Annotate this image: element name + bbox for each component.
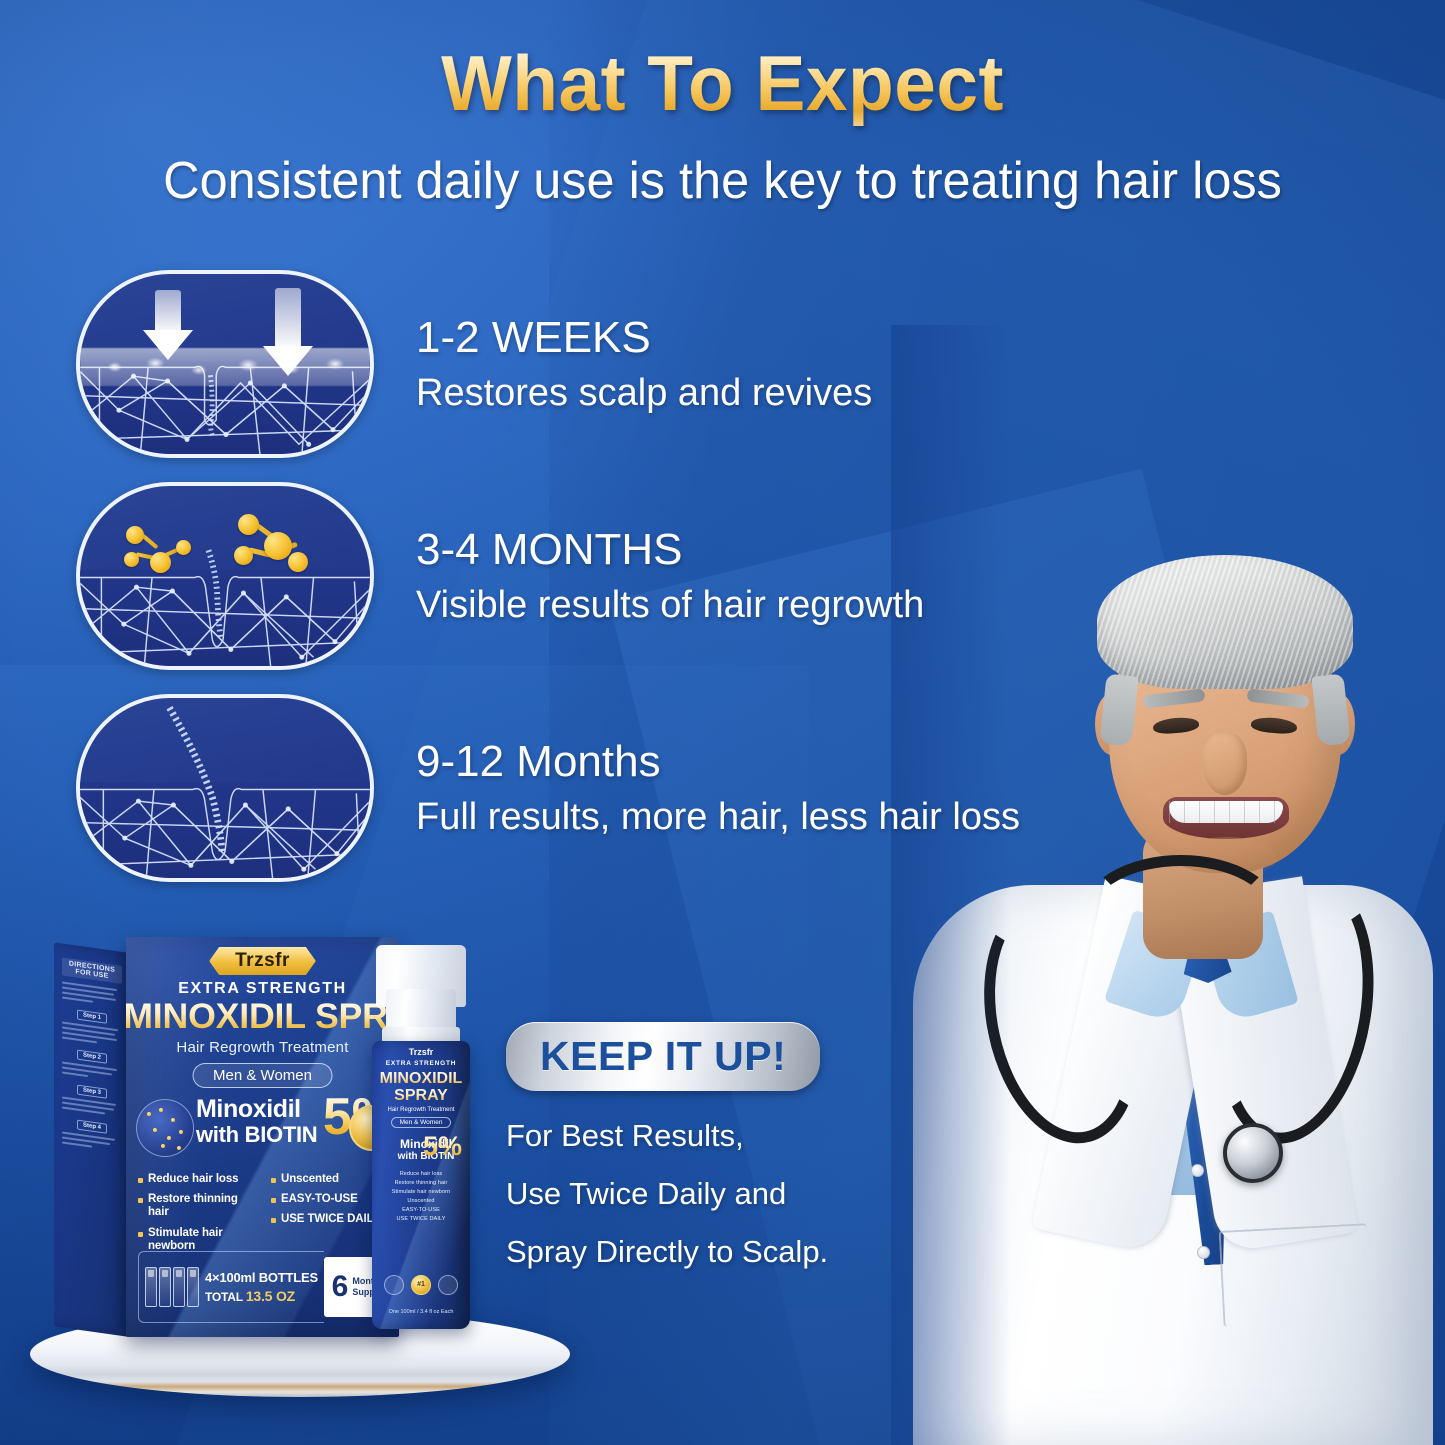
step-text — [62, 1021, 122, 1046]
minoxidil-molecule-large — [232, 512, 324, 578]
directions-text — [62, 981, 122, 1006]
supply-months: 6 — [332, 1272, 349, 1302]
product-display: DIRECTIONS FOR USE Step 1 Step 2 Step 3 … — [24, 927, 584, 1397]
extra-strength-label: EXTRA STRENGTH — [126, 980, 399, 998]
rank-badge-icon: #1 — [411, 1275, 431, 1295]
bullet-icon — [271, 1218, 276, 1223]
expectation-timeline: 1-2 WEEKS Restores scalp and revives — [76, 258, 1076, 894]
timeline-row: 1-2 WEEKS Restores scalp and revives — [76, 258, 1076, 470]
timeline-text: 1-2 WEEKS Restores scalp and revives — [374, 313, 872, 416]
doctor-gray-hair — [1097, 555, 1353, 689]
audience-label: Men & Women — [192, 1063, 333, 1088]
timeline-text: 9-12 Months Full results, more hair, les… — [374, 737, 1020, 840]
step-label: Step 3 — [77, 1085, 107, 1099]
doctor-nose — [1203, 733, 1247, 795]
step-label: Step 4 — [77, 1120, 107, 1134]
bottle-audience-wrap: Men & Women — [372, 1119, 470, 1126]
bottle-badges: #1 — [372, 1275, 470, 1295]
timeline-description: Visible results of hair regrowth — [416, 584, 924, 628]
timeline-description: Restores scalp and revives — [416, 372, 872, 416]
step-label: Step 1 — [77, 1010, 107, 1024]
bottle-count-icon — [145, 1267, 199, 1307]
brand-badge: Trzsfr — [209, 947, 316, 975]
stethoscope-chestpiece — [1223, 1123, 1283, 1183]
bottle-treatment: Hair Regrowth Treatment — [372, 1107, 470, 1113]
bottle-benefit: EASY-TO-USE — [372, 1207, 470, 1213]
benefits-list: Reduce hair loss Restore thinning hair S… — [138, 1173, 390, 1260]
scalp-illustration-icon — [136, 1099, 194, 1157]
bottle-quantity: 4×100ml BOTTLES — [205, 1270, 318, 1285]
bottle-benefit: Restore thinning hair — [372, 1180, 470, 1186]
scalp-molecules-icon — [76, 482, 374, 670]
bottle-benefit: Reduce hair loss — [372, 1171, 470, 1177]
timeline-heading: 1-2 WEEKS — [416, 313, 872, 362]
doctor-sideburn-right — [1311, 674, 1350, 747]
timeline-row: 9-12 Months Full results, more hair, les… — [76, 682, 1076, 894]
skin-mesh — [80, 698, 370, 881]
directions-heading: DIRECTIONS FOR USE — [62, 957, 122, 983]
absorption-arrow-right — [258, 288, 318, 380]
quantity-text: 4×100ml BOTTLES TOTAL 13.5 OZ — [205, 1270, 318, 1304]
header: What To Expect Consistent daily use is t… — [0, 0, 1445, 211]
treatment-label: Hair Regrowth Treatment — [126, 1039, 399, 1056]
minoxidil-molecule-small — [122, 522, 200, 580]
benefits-column-left: Reduce hair loss Restore thinning hair S… — [138, 1173, 257, 1260]
bottle-label: Trzsfr EXTRA STRENGTH MINOXIDIL SPRAY Ha… — [372, 1041, 470, 1329]
benefit-label: Reduce hair loss — [148, 1173, 238, 1186]
stethoscope-neck-band — [1081, 855, 1281, 975]
bottle-benefits: Reduce hair loss Restore thinning hair S… — [372, 1171, 470, 1225]
bullet-icon — [271, 1178, 276, 1183]
doctor-teeth — [1169, 801, 1283, 823]
doctor-coat-pocket — [1219, 1223, 1372, 1327]
bullet-icon — [138, 1232, 143, 1237]
step-label: Step 2 — [77, 1050, 107, 1064]
scalp-hair-growth-icon — [76, 694, 374, 882]
bottle-benefit: Stimulate hair newborn — [372, 1189, 470, 1195]
bullet-icon — [138, 1198, 143, 1203]
page-title: What To Expect — [29, 38, 1416, 129]
bottle-audience: Men & Women — [391, 1117, 452, 1128]
bottle-brand: Trzsfr — [372, 1047, 470, 1057]
benefit-item: Restore thinning hair — [138, 1193, 257, 1219]
scalp-absorption-icon — [76, 270, 374, 458]
box-side-panel: DIRECTIONS FOR USE Step 1 Step 2 Step 3 … — [54, 942, 130, 1337]
bottle-benefit: USE TWICE DAILY — [372, 1216, 470, 1222]
benefit-label: EASY-TO-USE — [281, 1193, 358, 1206]
total-value: 13.5 OZ — [246, 1288, 295, 1304]
bullet-icon — [138, 1178, 143, 1183]
product-name: MINOXIDIL SPRAY — [126, 997, 399, 1037]
step-text — [62, 1061, 122, 1081]
doctor-mouth — [1163, 797, 1289, 839]
timeline-heading: 3-4 MONTHS — [416, 525, 924, 574]
bottle-seal-right-icon — [438, 1275, 458, 1295]
spray-bottle: Trzsfr EXTRA STRENGTH MINOXIDIL SPRAY Ha… — [362, 945, 480, 1335]
bottle-product-name-line1: MINOXIDIL — [372, 1070, 470, 1088]
bottle-product-name-line2: SPRAY — [372, 1087, 470, 1105]
benefit-label: Stimulate hair newborn — [148, 1227, 257, 1253]
bottle-volume: One 100ml / 3.4 fl oz Each — [372, 1309, 470, 1315]
total-label: TOTAL — [205, 1290, 243, 1304]
page-subtitle: Consistent daily use is the key to treat… — [22, 151, 1424, 211]
bottle-seal-left-icon — [384, 1275, 404, 1295]
bottle-benefit: Unscented — [372, 1198, 470, 1204]
bottle-concentration: 5% — [423, 1133, 462, 1160]
foam-layer — [80, 348, 370, 386]
box-front-panel: Trzsfr EXTRA STRENGTH MINOXIDIL SPRAY Ha… — [126, 937, 399, 1337]
benefit-label: Restore thinning hair — [148, 1193, 257, 1219]
timeline-text: 3-4 MONTHS Visible results of hair regro… — [374, 525, 924, 628]
timeline-row: 3-4 MONTHS Visible results of hair regro… — [76, 470, 1076, 682]
timeline-heading: 9-12 Months — [416, 737, 1020, 786]
step-text — [62, 1131, 122, 1151]
step-text — [62, 1096, 122, 1116]
timeline-description: Full results, more hair, less hair loss — [416, 796, 1020, 840]
quantity-panel: 4×100ml BOTTLES TOTAL 13.5 OZ 6 Month Su… — [138, 1251, 390, 1323]
benefit-item: Stimulate hair newborn — [138, 1227, 257, 1253]
doctor-coat-button-bottom — [1197, 1246, 1210, 1259]
bullet-icon — [271, 1198, 276, 1203]
quantity-details: 4×100ml BOTTLES TOTAL 13.5 OZ — [138, 1251, 324, 1323]
benefit-item: Reduce hair loss — [138, 1173, 257, 1186]
doctor-coat-button-top — [1191, 1164, 1204, 1177]
benefit-label: Unscented — [281, 1173, 339, 1186]
product-box: DIRECTIONS FOR USE Step 1 Step 2 Step 3 … — [54, 937, 399, 1337]
absorption-arrow-left — [138, 290, 198, 360]
bottle-extra-strength: EXTRA STRENGTH — [372, 1060, 470, 1067]
total-volume: TOTAL 13.5 OZ — [205, 1288, 318, 1304]
